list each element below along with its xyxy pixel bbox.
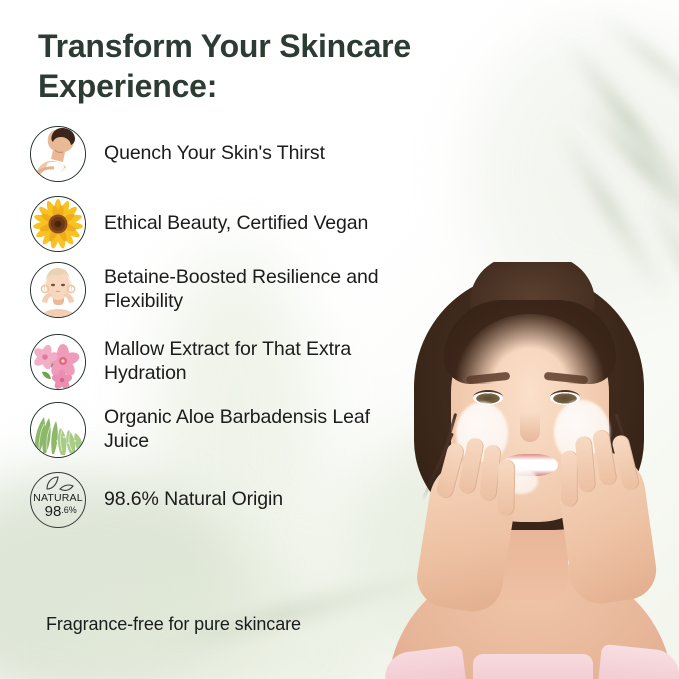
benefit-label-3: Betaine-Boosted Resilience and Flexibili… <box>104 266 379 314</box>
woman-touching-face-icon <box>30 262 86 318</box>
woman-applying-cream-icon <box>30 126 86 182</box>
benefit-label-6: 98.6% Natural Origin <box>104 488 283 512</box>
benefit-row-5: Organic Aloe Barbadensis Leaf Juice <box>30 402 500 458</box>
model-garment-right <box>598 644 679 679</box>
natural-badge-value: 98 <box>45 503 62 520</box>
page-title: Transform Your Skincare Experience: <box>38 26 508 106</box>
footer-note: Fragrance-free for pure skincare <box>46 614 301 635</box>
marketing-graphic: Transform Your Skincare Experience: Quen… <box>0 0 679 679</box>
benefit-row-6: NATURAL 98 .6% 98.6% Natural Origin <box>30 472 500 528</box>
model-nose <box>520 412 540 442</box>
benefit-row-1: Quench Your Skin's Thirst <box>30 126 500 182</box>
natural-percentage-badge-icon: NATURAL 98 .6% <box>30 472 86 528</box>
benefit-label-1: Quench Your Skin's Thirst <box>104 142 325 166</box>
benefit-row-2: Ethical Beauty, Certified Vegan <box>30 196 500 252</box>
sunflower-icon <box>30 196 86 252</box>
benefit-label-4: Mallow Extract for That Extra Hydration <box>104 338 351 386</box>
model-garment-center <box>473 654 593 679</box>
mallow-flower-icon <box>30 334 86 390</box>
benefit-label-5: Organic Aloe Barbadensis Leaf Juice <box>104 406 370 454</box>
model-finger <box>497 459 515 515</box>
model-finger <box>561 451 578 507</box>
benefit-label-2: Ethical Beauty, Certified Vegan <box>104 212 368 236</box>
benefit-row-3: Betaine-Boosted Resilience and Flexibili… <box>30 262 500 318</box>
benefit-row-4: Mallow Extract for That Extra Hydration <box>30 334 500 390</box>
aloe-vera-icon <box>30 402 86 458</box>
model-photo <box>378 262 679 679</box>
natural-badge-decimal: .6% <box>61 505 77 515</box>
